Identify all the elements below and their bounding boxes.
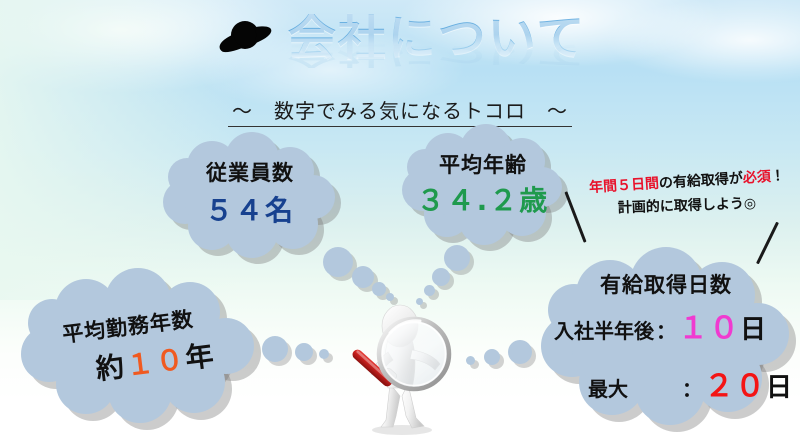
cloud-shape [400, 132, 566, 242]
cloud-paid-leave-days: 有給取得日数 入社半年後 ： １０ 日 最大 ： ２０ 日 [532, 252, 800, 432]
thought-trail-bubble [484, 349, 500, 365]
thought-trail-bubble [444, 245, 470, 271]
thought-trail-bubble [295, 343, 313, 361]
page-title-reflection: 会社について [74, 42, 800, 69]
cloud-shape [532, 252, 800, 432]
person-with-magnifier [336, 296, 464, 435]
note-tail: ！ [770, 168, 785, 185]
note-red-b: 必須 [742, 169, 771, 187]
thought-trail-bubble [466, 356, 475, 365]
thought-trail-bubble [372, 282, 386, 296]
cloud-average-age: 平均年齢 ３４.２歳 [400, 132, 566, 242]
cloud-shape [160, 140, 340, 255]
note-black: の有給取得が [659, 171, 744, 192]
thought-trail-bubble [424, 285, 435, 296]
note-red-a: 年間５日間 [589, 176, 660, 196]
page-subtitle-text: 〜 数字でみる気になるトコロ 〜 [228, 99, 572, 127]
page-subtitle: 〜 数字でみる気になるトコロ 〜 [0, 95, 800, 124]
thought-trail-bubble [319, 349, 329, 359]
thought-trail-bubble [432, 268, 450, 286]
paid-leave-note: 年間５日間の有給取得が必須！ 計画的に取得しよう◎ [576, 172, 798, 217]
infographic-canvas: 会社について 会社について 〜 数字でみる気になるトコロ 〜 [0, 0, 800, 435]
cloud-employees: 従業員数 ５４名 [160, 140, 340, 255]
cloud-shape [16, 278, 268, 420]
cloud-average-tenure: 平均勤務年数 約１０年 [16, 278, 268, 420]
thought-trail-bubble [352, 266, 374, 288]
thought-trail-bubble [508, 340, 532, 364]
magnifier-lens-icon [379, 319, 449, 389]
